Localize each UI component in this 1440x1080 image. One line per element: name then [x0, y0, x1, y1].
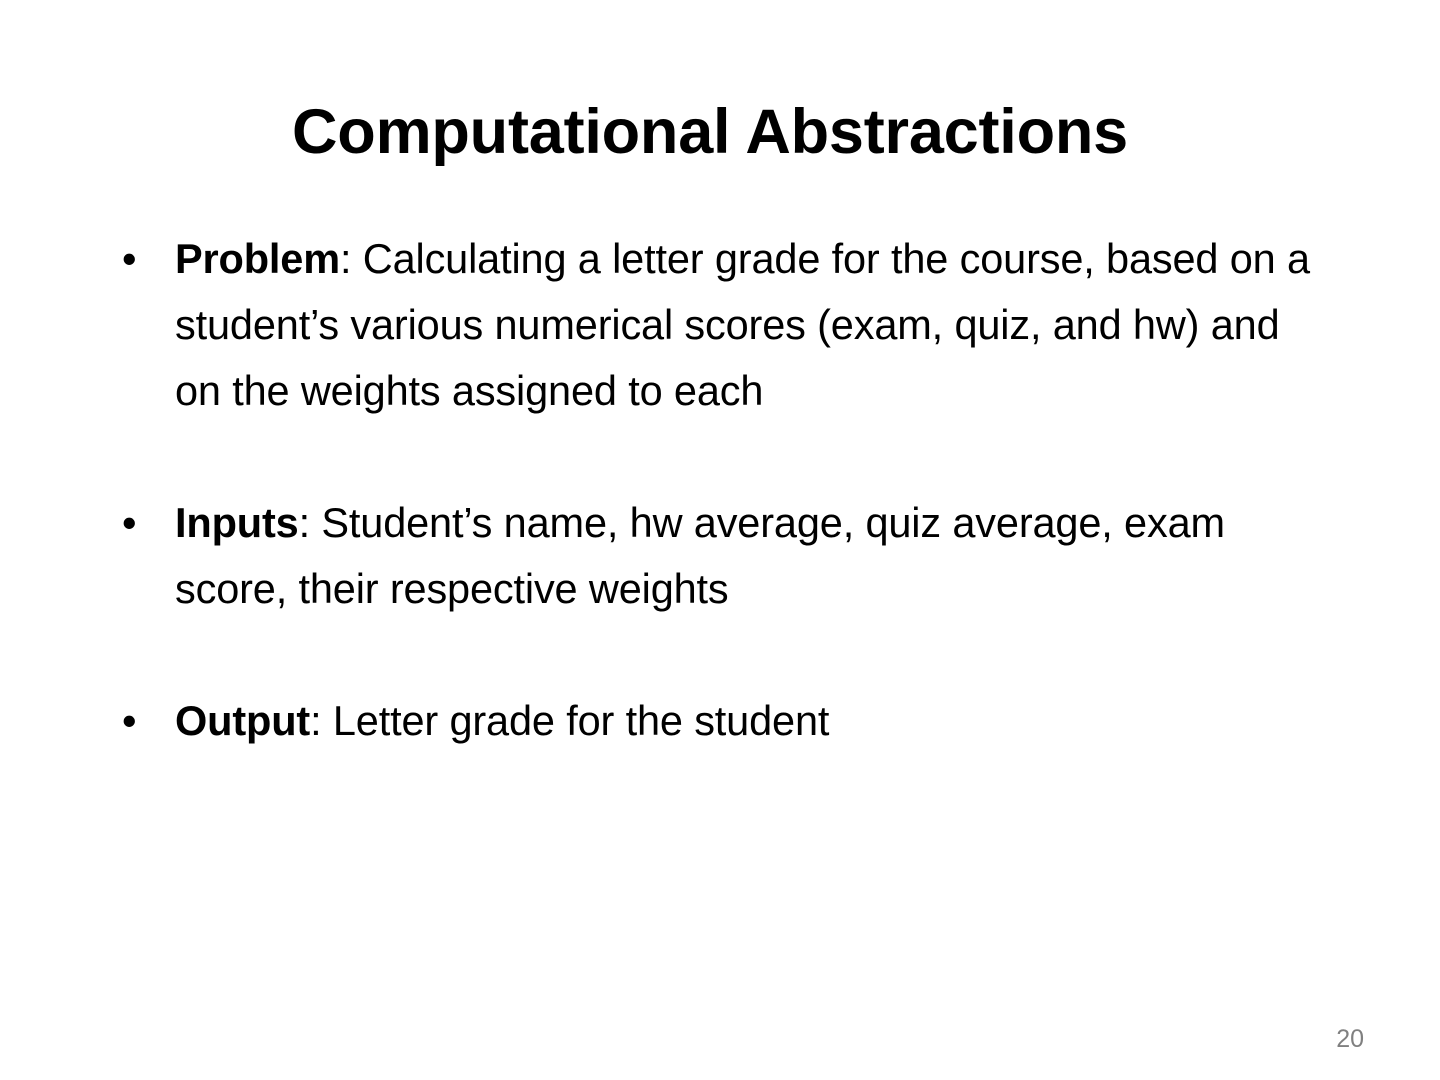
list-item-label: Problem — [175, 235, 340, 282]
list-item-text: Problem: Calculating a letter grade for … — [175, 226, 1333, 424]
list-item-inputs: • Inputs: Student’s name, hw average, qu… — [118, 490, 1333, 622]
page-number: 20 — [1336, 1027, 1364, 1052]
list-item-body: : Student’s name, hw average, quiz avera… — [175, 499, 1225, 612]
bullet-point-icon: • — [118, 490, 175, 556]
bullet-spacer — [118, 622, 1333, 688]
list-item-text: Inputs: Student’s name, hw average, quiz… — [175, 490, 1333, 622]
page-title: Computational Abstractions — [0, 98, 1420, 166]
list-item-body: : Calculating a letter grade for the cou… — [175, 235, 1310, 414]
list-item-problem: • Problem: Calculating a letter grade fo… — [118, 226, 1333, 424]
bullet-point-icon: • — [118, 226, 175, 292]
list-item-text: Output: Letter grade for the student — [175, 688, 1333, 754]
list-item-label: Inputs — [175, 499, 299, 546]
bullet-point-icon: • — [118, 688, 175, 754]
bullet-list: • Problem: Calculating a letter grade fo… — [118, 226, 1333, 754]
slide: Computational Abstractions • Problem: Ca… — [0, 0, 1440, 1080]
bullet-spacer — [118, 424, 1333, 490]
list-item-body: : Letter grade for the student — [310, 697, 829, 744]
list-item-output: • Output: Letter grade for the student — [118, 688, 1333, 754]
list-item-label: Output — [175, 697, 310, 744]
